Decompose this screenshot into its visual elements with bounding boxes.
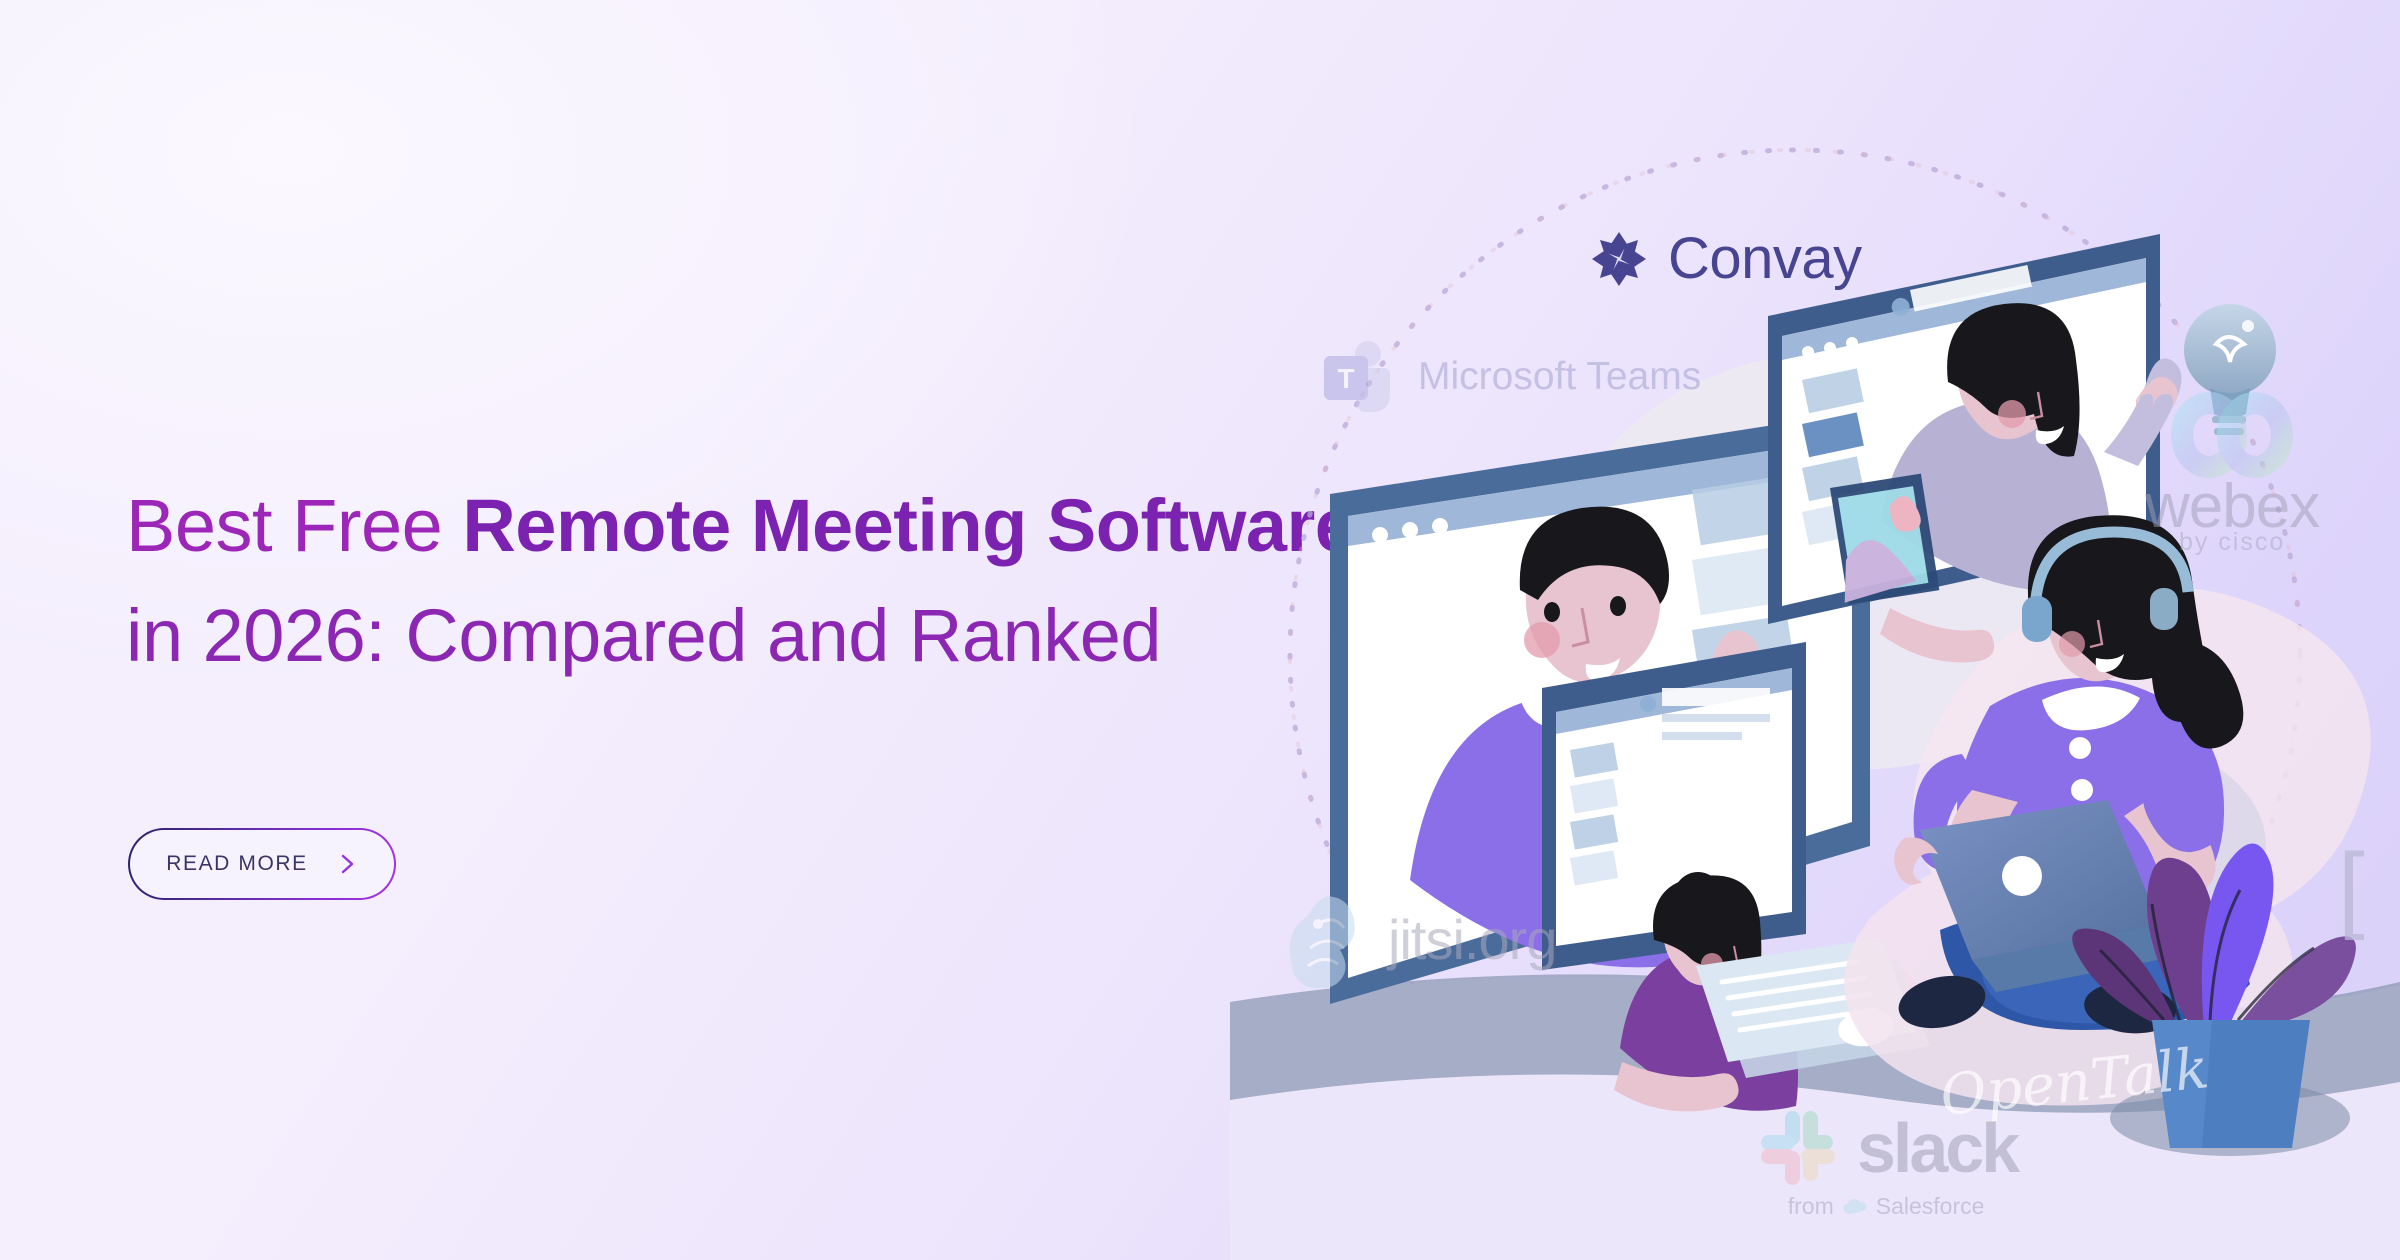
slack-from-label: from [1788,1193,1834,1220]
brand-jitsi-label: jitsi.org [1388,912,1556,968]
brand-webex: webex by cisco [2145,392,2319,557]
read-more-button[interactable]: READ MORE [128,828,396,900]
girl-hair-bun [1674,872,1722,920]
remote-meeting-illustration [1230,0,2400,1260]
brand-slack-sublabel: from Salesforce [1788,1193,1985,1220]
brand-microsoft-teams: T Microsoft Teams [1320,340,1701,412]
slack-hash-icon [1755,1105,1841,1191]
wall-picture-frame [1830,474,1939,605]
webex-loop-icon [2167,392,2297,478]
salesforce-label: Salesforce [1876,1193,1985,1220]
read-more-label: READ MORE [166,852,308,876]
brand-jitsi: jitsi.org [1280,890,1556,990]
brand-webex-sublabel: by cisco [2179,528,2285,557]
brand-convay: Convay [1588,228,1862,290]
headline-bold-part: Remote Meeting Software [462,484,1355,567]
brand-teams-label: Microsoft Teams [1418,357,1701,396]
hero-banner: Best Free Remote Meeting Software in 202… [0,0,2400,1260]
salesforce-cloud-icon [1842,1198,1868,1216]
microsoft-teams-icon: T [1320,340,1402,412]
bracket-decoration: [ [2338,840,2365,936]
chevron-right-icon [338,854,358,874]
convay-pinwheel-icon [1588,228,1650,290]
shirt-button-2 [2071,779,2093,801]
laptop-logo [2002,856,2042,896]
svg-text:T: T [1337,363,1354,394]
brand-opentalk: OpenTalk [1940,1055,2209,1111]
jitsi-bird-icon [1280,890,1376,990]
headphone-earcup [2022,596,2052,642]
headline-light-part: Best Free [126,484,462,567]
brand-convay-label: Convay [1668,230,1862,288]
read-more-inner: READ MORE [130,830,394,898]
shirt-button-1 [2069,737,2091,759]
illustration-svg [1230,0,2400,1260]
